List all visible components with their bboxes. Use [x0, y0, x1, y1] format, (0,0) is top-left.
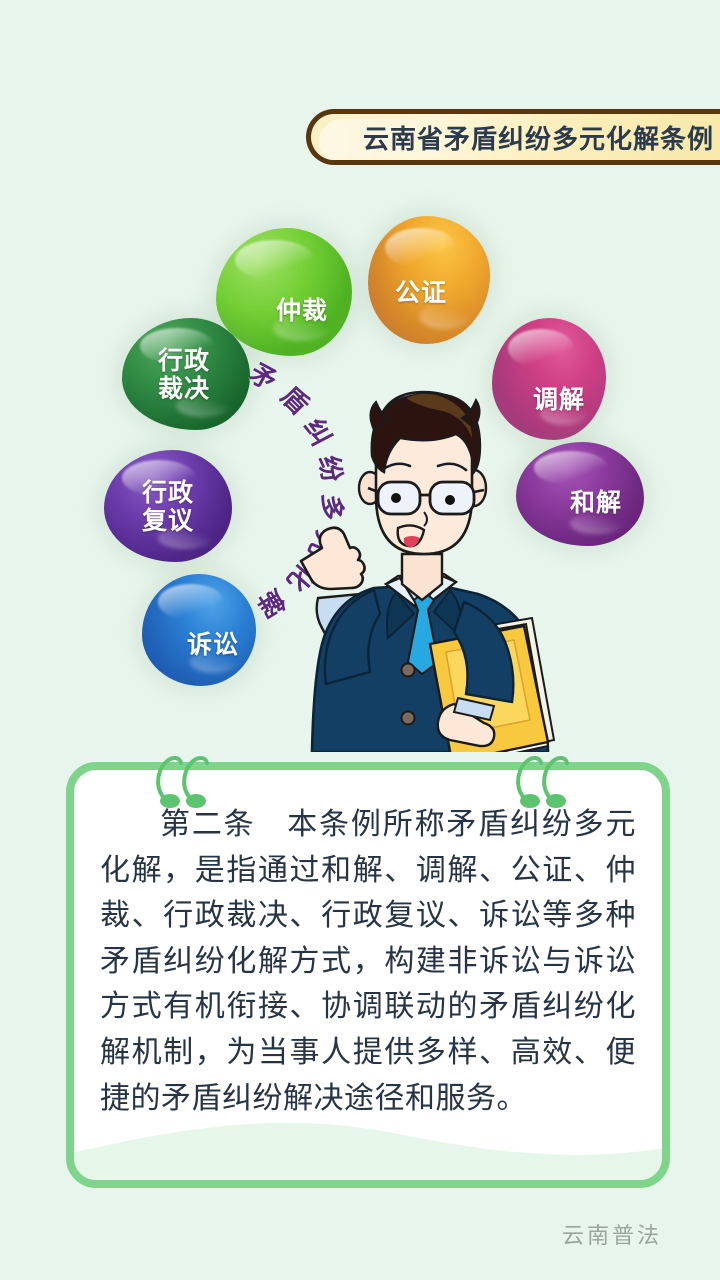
page-title: 云南省矛盾纠纷多元化解条例	[363, 119, 714, 156]
quote-open-icon	[152, 752, 216, 808]
bubble-xingzheng-fuyi[interactable]: 行政 复议	[104, 450, 232, 562]
footer-watermark: 云南普法	[562, 1218, 662, 1250]
bubble-label: 公证	[395, 277, 447, 307]
bubble-label-line2: 复议	[142, 507, 194, 535]
poster-root: 云南省矛盾纠纷多元化解条例 仲裁 公证 行政 裁决 调解 和解	[0, 0, 720, 1280]
bubble-label: 行政 复议	[142, 477, 194, 535]
bubble-label-line1: 行政	[158, 347, 210, 375]
bubble-label-line1: 行政	[142, 479, 194, 507]
title-banner: 云南省矛盾纠纷多元化解条例	[306, 109, 720, 165]
quote-card: 第二条 本条例所称矛盾纠纷多元化解，是指通过和解、调解、公证、仲裁、行政裁决、行…	[66, 762, 670, 1188]
bubble-label: 诉讼	[187, 629, 239, 659]
bubble-label: 仲裁	[276, 295, 328, 325]
bubble-label: 调解	[533, 384, 585, 414]
bubble-xingzheng-caijue[interactable]: 行政 裁决	[122, 318, 250, 430]
bubble-label: 和解	[570, 487, 622, 517]
bubble-label: 行政 裁决	[158, 345, 210, 403]
bubble-gongzheng[interactable]: 公证	[368, 216, 490, 344]
bubble-label-line2: 裁决	[158, 375, 210, 403]
regulation-article-text: 第二条 本条例所称矛盾纠纷多元化解，是指通过和解、调解、公证、仲裁、行政裁决、行…	[100, 802, 636, 1121]
bubble-susong[interactable]: 诉讼	[142, 574, 256, 686]
quote-close-icon	[512, 752, 576, 808]
